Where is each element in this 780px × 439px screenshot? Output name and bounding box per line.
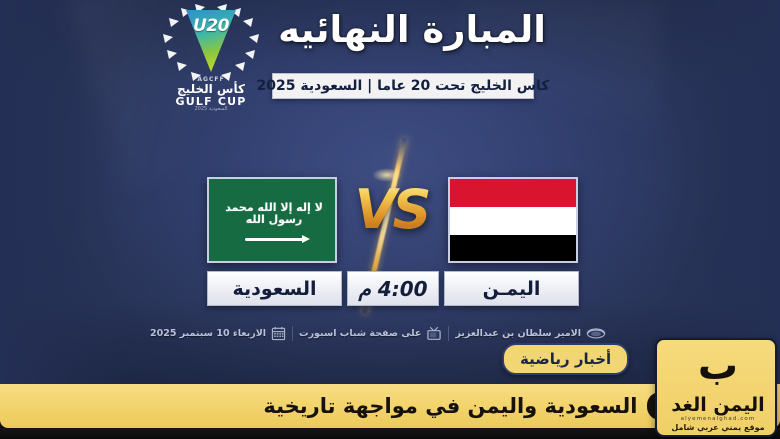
brand-url-label: alyemenalghad.com [657,416,777,422]
match-poster: U20 AGCFF كأس الخليج GULF CUP السعودية 2… [0,0,780,384]
yemen-flag-white-band [450,207,578,235]
saudi-sword-icon [245,238,303,241]
brand-mark-letter: ب [657,346,777,386]
away-team-box: اليمـن [444,271,579,306]
brand-tagline-label: موقع يمني عربي شامل [657,423,777,432]
kickoff-time: 4:00 م [358,277,427,301]
logo-host-label: السعودية 2025 [157,106,265,112]
kickoff-time-box: 4:00 م [347,271,439,306]
vs-label: VS [346,178,436,241]
banner-headline: السعودية واليمن في مواجهة تاريخية [263,394,637,418]
match-date-text: الاربعاء 10 سبتمبر 2025 [150,328,266,339]
yemen-flag-black-band [450,235,578,263]
calendar-icon [271,326,286,341]
poster-subtitle-text: كاس الخليج تحت 20 عاما | السعودية 2025 [257,78,550,94]
yemen-flag-red-band [450,179,578,207]
match-channel-item: على صفحة شباب اسبورت [299,326,442,341]
poster-subtitle-box: كاس الخليج تحت 20 عاما | السعودية 2025 [272,73,534,99]
home-team-box: السعودية [207,271,342,306]
stadium-icon [586,326,606,340]
info-divider [448,326,449,341]
match-date-item: الاربعاء 10 سبتمبر 2025 [150,326,286,341]
sports-news-badge[interactable]: أخبار رياضية [502,343,629,375]
saudi-shahada-text: لا إله إلا الله محمد رسول الله [209,202,337,225]
screenshot-root: U20 AGCFF كأس الخليج GULF CUP السعودية 2… [0,0,780,439]
sports-news-label: أخبار رياضية [520,350,611,368]
away-team-name: اليمـن [483,278,541,300]
gulf-cup-logo: U20 AGCFF كأس الخليج GULF CUP السعودية 2… [157,2,265,114]
logo-name-arabic: كأس الخليج [157,82,265,96]
poster-title: المبارة النهائيه [262,8,562,51]
brand-name-label: اليمن الغد [657,394,777,416]
info-divider [292,326,293,341]
site-logo-card[interactable]: ب اليمن الغد alyemenalghad.com موقع يمني… [655,338,777,437]
saudi-arabia-flag: لا إله إلا الله محمد رسول الله [207,177,337,263]
yemen-flag [448,177,578,263]
match-stadium-text: الامير سلطان بن عبدالعزيز [455,328,581,339]
home-team-name: السعودية [232,278,316,300]
match-stadium-item: الامير سلطان بن عبدالعزيز [455,326,606,340]
logo-u20-label: U20 [186,16,236,36]
tv-icon [426,326,442,341]
match-channel-text: على صفحة شباب اسبورت [299,328,421,339]
